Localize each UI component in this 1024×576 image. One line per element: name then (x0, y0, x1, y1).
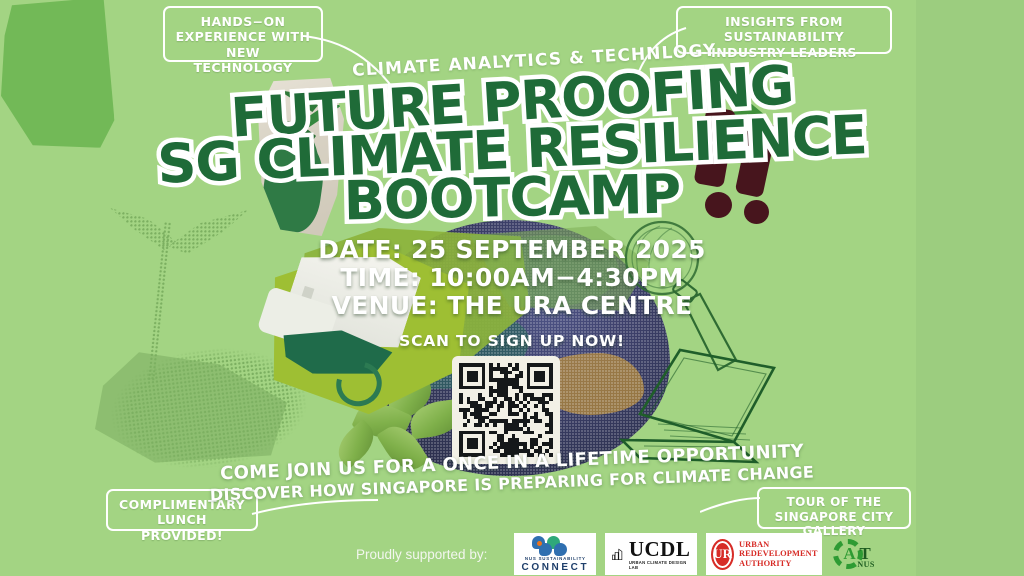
background-hand-shape (95, 345, 295, 465)
callout-tour: TOUR OF THE SINGAPORE CITY GALLERY (757, 487, 911, 529)
logo-urban-redevelopment-authority: UR URBAN REDEVELOPMENT AUTHORITY (706, 533, 822, 575)
ura-line-2: REDEVELOPMENT (739, 549, 818, 558)
nus-logo-top-text: NUS SUSTAINABILITY (525, 556, 586, 561)
right-edge-strip (916, 0, 1024, 576)
ucdl-building-icon (612, 542, 624, 566)
nus-connect-icon (532, 536, 578, 555)
ura-line-1: URBAN (739, 540, 818, 549)
scan-prompt: SCAN TO SIGN UP NOW! (0, 332, 1024, 350)
poster-canvas: HANDS−ON EXPERIENCE WITH NEW TECHNOLOGY … (0, 0, 1024, 576)
event-date: DATE: 25 SEPTEMBER 2025 (0, 236, 1024, 264)
logo-cat-nus: A T NUS (831, 533, 891, 575)
event-time: TIME: 10:00AM−4:30PM (0, 264, 1024, 292)
callout-insights-text: INSIGHTS FROM SUSTAINABILITY INDUSTRY LE… (711, 14, 857, 60)
logo-nus-sustainability-connect: NUS SUSTAINABILITY CONNECT (514, 533, 596, 575)
ura-line-3: AUTHORITY (739, 559, 818, 568)
callout-hands-on-text: HANDS−ON EXPERIENCE WITH NEW TECHNOLOGY (176, 14, 311, 75)
ucdl-sub-text: URBAN CLIMATE DESIGN LAB (629, 560, 691, 570)
bottom-call-to-action: COME JOIN US FOR A ONCE IN A LIFETIME OP… (0, 452, 1024, 493)
callout-hands-on: HANDS−ON EXPERIENCE WITH NEW TECHNOLOGY (163, 6, 323, 62)
ura-roundel-icon: UR (711, 539, 734, 570)
logo-ucdl: UCDL URBAN CLIMATE DESIGN LAB (605, 533, 697, 575)
event-venue: VENUE: THE URA CENTRE (0, 292, 1024, 320)
cat-sub-text: NUS (857, 560, 875, 569)
sponsor-bar: Proudly supported by: NUS SUSTAINABILITY… (0, 532, 1024, 576)
ucdl-main-text: UCDL (629, 539, 691, 560)
sponsor-label: Proudly supported by: (356, 547, 487, 562)
event-details: DATE: 25 SEPTEMBER 2025 TIME: 10:00AM−4:… (0, 236, 1024, 320)
cat-letter-a: A (843, 544, 855, 564)
qr-code-signup[interactable] (452, 356, 560, 464)
callout-connector-tour (700, 494, 762, 520)
ura-text-block: URBAN REDEVELOPMENT AUTHORITY (739, 540, 818, 567)
poster-title: FUTURE PROOFING SG CLIMATE RESILIENCE BO… (0, 76, 1024, 223)
nus-logo-main-text: CONNECT (522, 562, 590, 573)
qr-code-modules (459, 363, 553, 457)
ucdl-text-block: UCDL URBAN CLIMATE DESIGN LAB (629, 539, 691, 570)
